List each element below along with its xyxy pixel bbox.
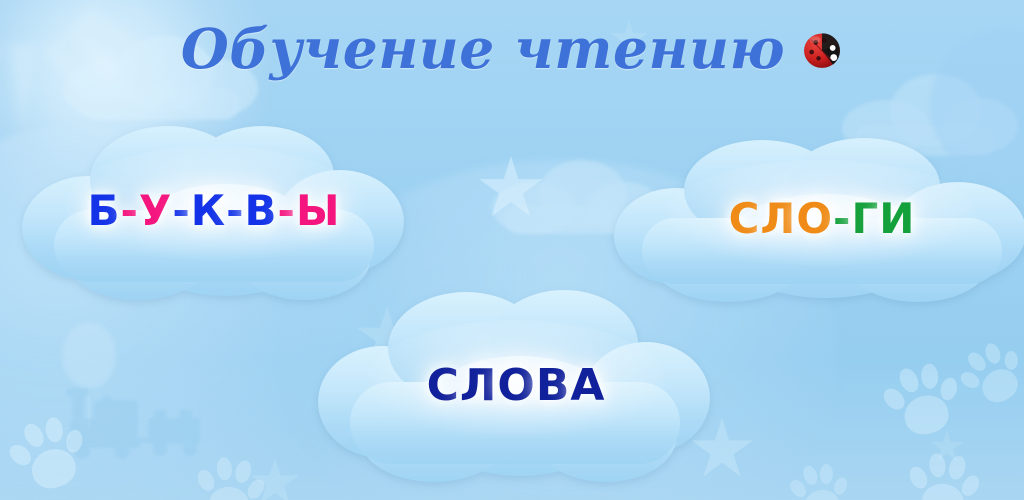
ladybug-icon: [801, 30, 843, 70]
app-root: Обучение чтению: [0, 0, 1024, 500]
label-segment: В: [245, 186, 278, 235]
label-segment: В: [536, 360, 571, 411]
paw-print-icon: [193, 449, 270, 500]
label-segment: Л: [460, 360, 498, 411]
label-segment: -: [833, 194, 851, 243]
menu-button-letters[interactable]: Б-У-К-В-Ы: [18, 118, 410, 304]
label-segment: А: [570, 360, 605, 411]
label-segment: Г: [851, 194, 879, 243]
label-segment: С: [729, 194, 761, 243]
label-segment: О: [497, 360, 535, 411]
label-segment: -: [172, 186, 190, 235]
label-segment: Б: [87, 186, 120, 235]
label-segment: Ы: [296, 186, 341, 235]
label-segment: И: [879, 194, 915, 243]
menu-button-words[interactable]: СЛОВА: [316, 282, 716, 488]
label-segment: С: [427, 360, 460, 411]
label-segment: Л: [760, 194, 796, 243]
label-segment: К: [191, 186, 226, 235]
menu-button-syllables[interactable]: СЛО-ГИ: [612, 136, 1024, 304]
menu-button-words-label: СЛОВА: [316, 364, 716, 408]
paw-print-icon: [786, 456, 854, 500]
menu-button-syllables-label: СЛО-ГИ: [612, 198, 1024, 240]
label-segment: У: [139, 186, 172, 235]
label-segment: -: [120, 186, 138, 235]
menu-button-letters-label: Б-У-К-В-Ы: [18, 190, 410, 232]
label-segment: О: [796, 194, 833, 243]
page-title: Обучение чтению: [181, 21, 785, 76]
balloon-icon: [62, 322, 116, 388]
header: Обучение чтению: [0, 8, 1024, 88]
paw-print-icon: [906, 446, 985, 500]
label-segment: -: [278, 186, 296, 235]
label-segment: -: [226, 186, 244, 235]
